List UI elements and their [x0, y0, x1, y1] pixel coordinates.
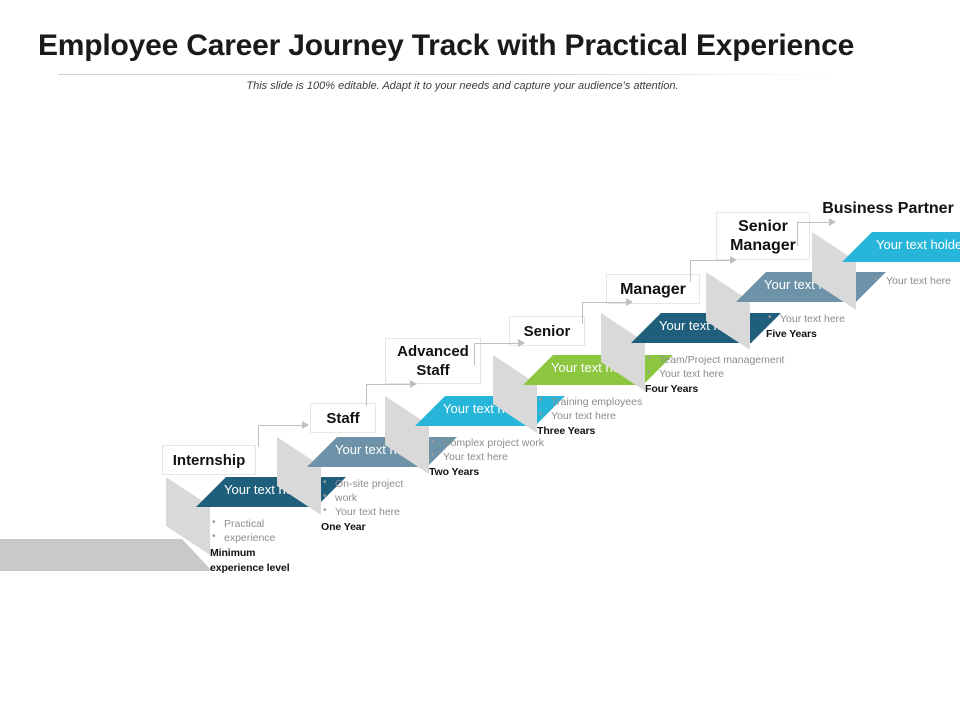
slide-canvas: Employee Career Journey Track with Pract… — [0, 0, 960, 720]
arrow-head-icon — [730, 256, 737, 264]
detail-bullet: Complex project work — [429, 436, 544, 450]
arrow-head-icon — [829, 218, 836, 226]
detail-bullet-text: work — [335, 492, 357, 504]
step-duration: One Year — [321, 519, 403, 534]
step-bar[interactable]: Your text holder — [842, 232, 960, 262]
role-label-text: Internship — [173, 451, 246, 470]
detail-bullet: Your text here — [429, 450, 544, 464]
step-details: Team/Project management Your text here F… — [645, 353, 784, 396]
detail-bullet-cont: work — [321, 491, 403, 505]
detail-bullet: Your text here — [537, 409, 642, 423]
role-label-text-line2: Manager — [730, 236, 796, 255]
role-label-text: Manager — [620, 280, 686, 299]
detail-bullet: Your text here — [321, 505, 403, 519]
role-label-manager[interactable]: Manager — [606, 274, 700, 304]
step-duration: Two Years — [429, 464, 544, 479]
role-label-text: Senior — [524, 322, 571, 341]
role-label-staff[interactable]: Staff — [310, 403, 376, 433]
step-duration: Three Years — [537, 423, 642, 438]
detail-bullet: Your text here — [645, 367, 784, 381]
role-label-text-line1: Advanced — [397, 342, 469, 361]
role-label-internship[interactable]: Internship — [162, 445, 256, 475]
arrow-head-icon — [626, 298, 633, 306]
step-details: Your text here Five Years — [766, 312, 845, 341]
step-details: Training employees Your text here Three … — [537, 395, 642, 438]
step-details: Complex project work Your text here Two … — [429, 436, 544, 479]
role-label-business-partner[interactable]: Business Partner — [810, 196, 960, 220]
detail-bullet: Your text here — [766, 312, 845, 326]
staircase-base — [0, 539, 212, 571]
detail-bullet: Team/Project management — [645, 353, 784, 367]
detail-bullet: Training employees — [537, 395, 642, 409]
step-duration-line2: experience level — [210, 560, 290, 575]
step-details: Your text here — [872, 274, 951, 288]
detail-bullet-cont: experience — [210, 531, 290, 545]
page-title: Employee Career Journey Track with Pract… — [38, 28, 922, 64]
page-subtitle: This slide is 100% editable. Adapt it to… — [0, 80, 925, 92]
step-bar[interactable]: Your text holder — [736, 272, 886, 302]
step-duration: Minimum — [210, 545, 290, 560]
step-duration: Four Years — [645, 381, 784, 396]
detail-bullet: On-site project — [321, 477, 403, 491]
step-details: Practical experience Minimum experience … — [210, 517, 290, 575]
role-label-text: Business Partner — [822, 199, 954, 218]
role-label-senior-manager[interactable]: Senior Manager — [716, 212, 810, 260]
role-label-text: Staff — [326, 409, 359, 428]
step-details: On-site project work Your text here One … — [321, 477, 403, 534]
role-label-advanced-staff[interactable]: Advanced Staff — [385, 338, 481, 384]
title-divider — [58, 74, 844, 75]
arrow-head-icon — [410, 380, 417, 388]
detail-bullet: Practical — [210, 517, 290, 531]
detail-bullet: Your text here — [872, 274, 951, 288]
arrow-head-icon — [518, 339, 525, 347]
step-duration: Five Years — [766, 326, 845, 341]
step-bar-label: Your text holder — [876, 237, 960, 252]
role-label-text-line1: Senior — [738, 217, 788, 236]
detail-bullet-text: experience — [224, 532, 275, 544]
arrow-head-icon — [302, 421, 309, 429]
role-label-text-line2: Staff — [416, 361, 449, 380]
